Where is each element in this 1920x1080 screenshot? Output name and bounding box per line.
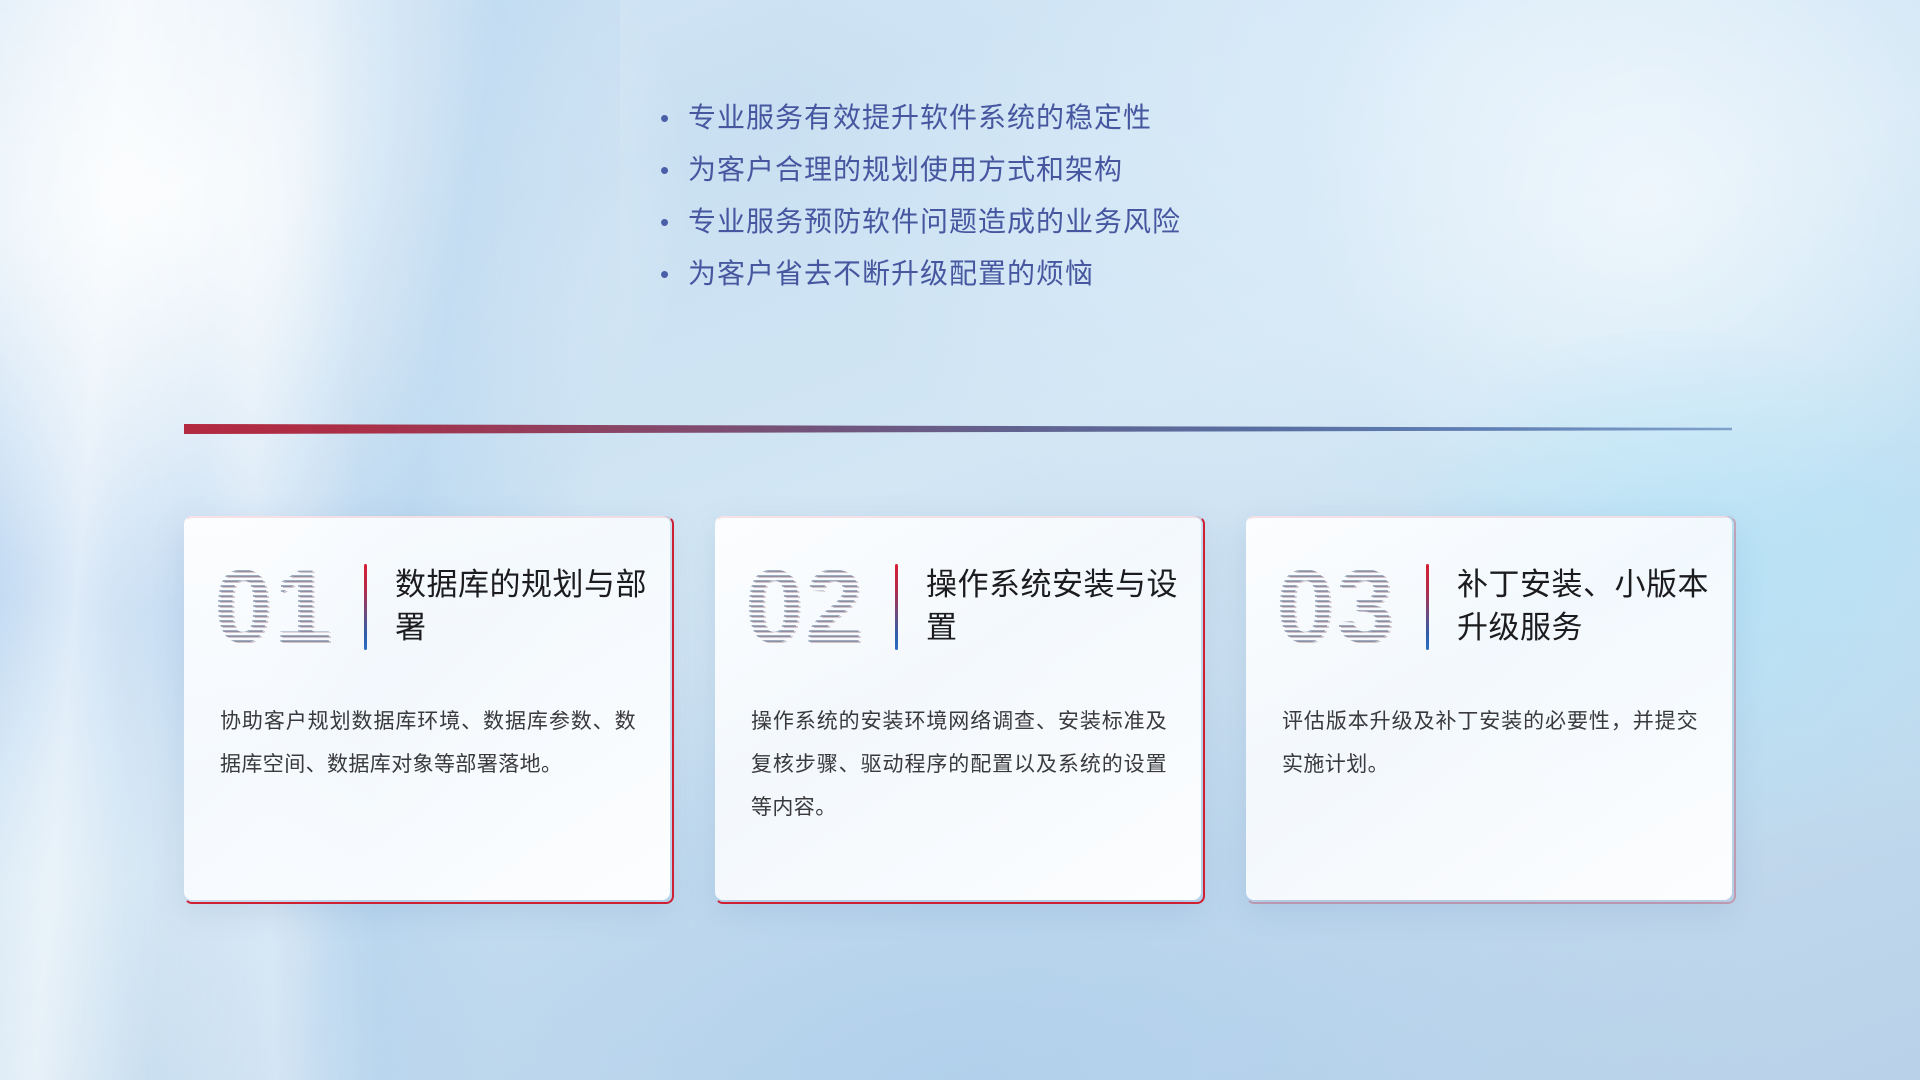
bullet-text: 专业服务预防软件问题造成的业务风险 [688, 200, 1181, 240]
bullet-text: 为客户省去不断升级配置的烦恼 [688, 252, 1094, 292]
card-header: 02 02 操作系统安装与设置 [715, 532, 1201, 682]
bullet-list: • 专业服务有效提升软件系统的稳定性 • 为客户合理的规划使用方式和架构 • 专… [660, 96, 1420, 304]
bullet-marker-icon: • [660, 105, 688, 131]
card-title: 操作系统安装与设置 [926, 564, 1201, 650]
card-03[interactable]: 03 03 补丁安装、小版本升级服务 评估版本升级及补丁安装的必要性，并提交实施… [1246, 516, 1732, 900]
card-number-watermark: 03 03 [1276, 551, 1426, 663]
card-number-glyph-tint: 02 [747, 556, 897, 660]
card-body-text: 评估版本升级及补丁安装的必要性，并提交实施计划。 [1282, 700, 1698, 786]
card-body-text: 协助客户规划数据库环境、数据库参数、数据库空间、数据库对象等部署落地。 [220, 700, 636, 786]
card-row: 01 01 数据库的规划与部署 协助客户规划数据库环境、数据库参数、数据库空间、… [184, 516, 1732, 900]
card-header: 03 03 补丁安装、小版本升级服务 [1246, 532, 1732, 682]
bullet-item: • 为客户省去不断升级配置的烦恼 [660, 252, 1420, 304]
card-title: 补丁安装、小版本升级服务 [1457, 564, 1732, 650]
card-header: 01 01 数据库的规划与部署 [184, 532, 670, 682]
card-number-glyph-tint: 01 [216, 556, 366, 660]
card-body-text: 操作系统的安装环境网络调查、安装标准及复核步骤、驱动程序的配置以及系统的设置等内… [751, 700, 1167, 829]
slide-canvas: • 专业服务有效提升软件系统的稳定性 • 为客户合理的规划使用方式和架构 • 专… [0, 0, 1920, 1080]
card-number-watermark: 01 01 [214, 551, 364, 663]
bullet-marker-icon: • [660, 209, 688, 235]
bullet-marker-icon: • [660, 157, 688, 183]
card-number-glyph-tint: 03 [1278, 556, 1428, 660]
bullet-marker-icon: • [660, 261, 688, 287]
divider-gradient-bar [184, 424, 1732, 434]
card-01[interactable]: 01 01 数据库的规划与部署 协助客户规划数据库环境、数据库参数、数据库空间、… [184, 516, 670, 900]
section-divider [184, 424, 1732, 434]
card-number-watermark: 02 02 [745, 551, 895, 663]
bullet-text: 为客户合理的规划使用方式和架构 [688, 148, 1123, 188]
bullet-item: • 专业服务有效提升软件系统的稳定性 [660, 96, 1420, 148]
card-02[interactable]: 02 02 操作系统安装与设置 操作系统的安装环境网络调查、安装标准及复核步骤、… [715, 516, 1201, 900]
bullet-item: • 为客户合理的规划使用方式和架构 [660, 148, 1420, 200]
bullet-item: • 专业服务预防软件问题造成的业务风险 [660, 200, 1420, 252]
bullet-text: 专业服务有效提升软件系统的稳定性 [688, 96, 1152, 136]
card-title: 数据库的规划与部署 [395, 564, 670, 650]
